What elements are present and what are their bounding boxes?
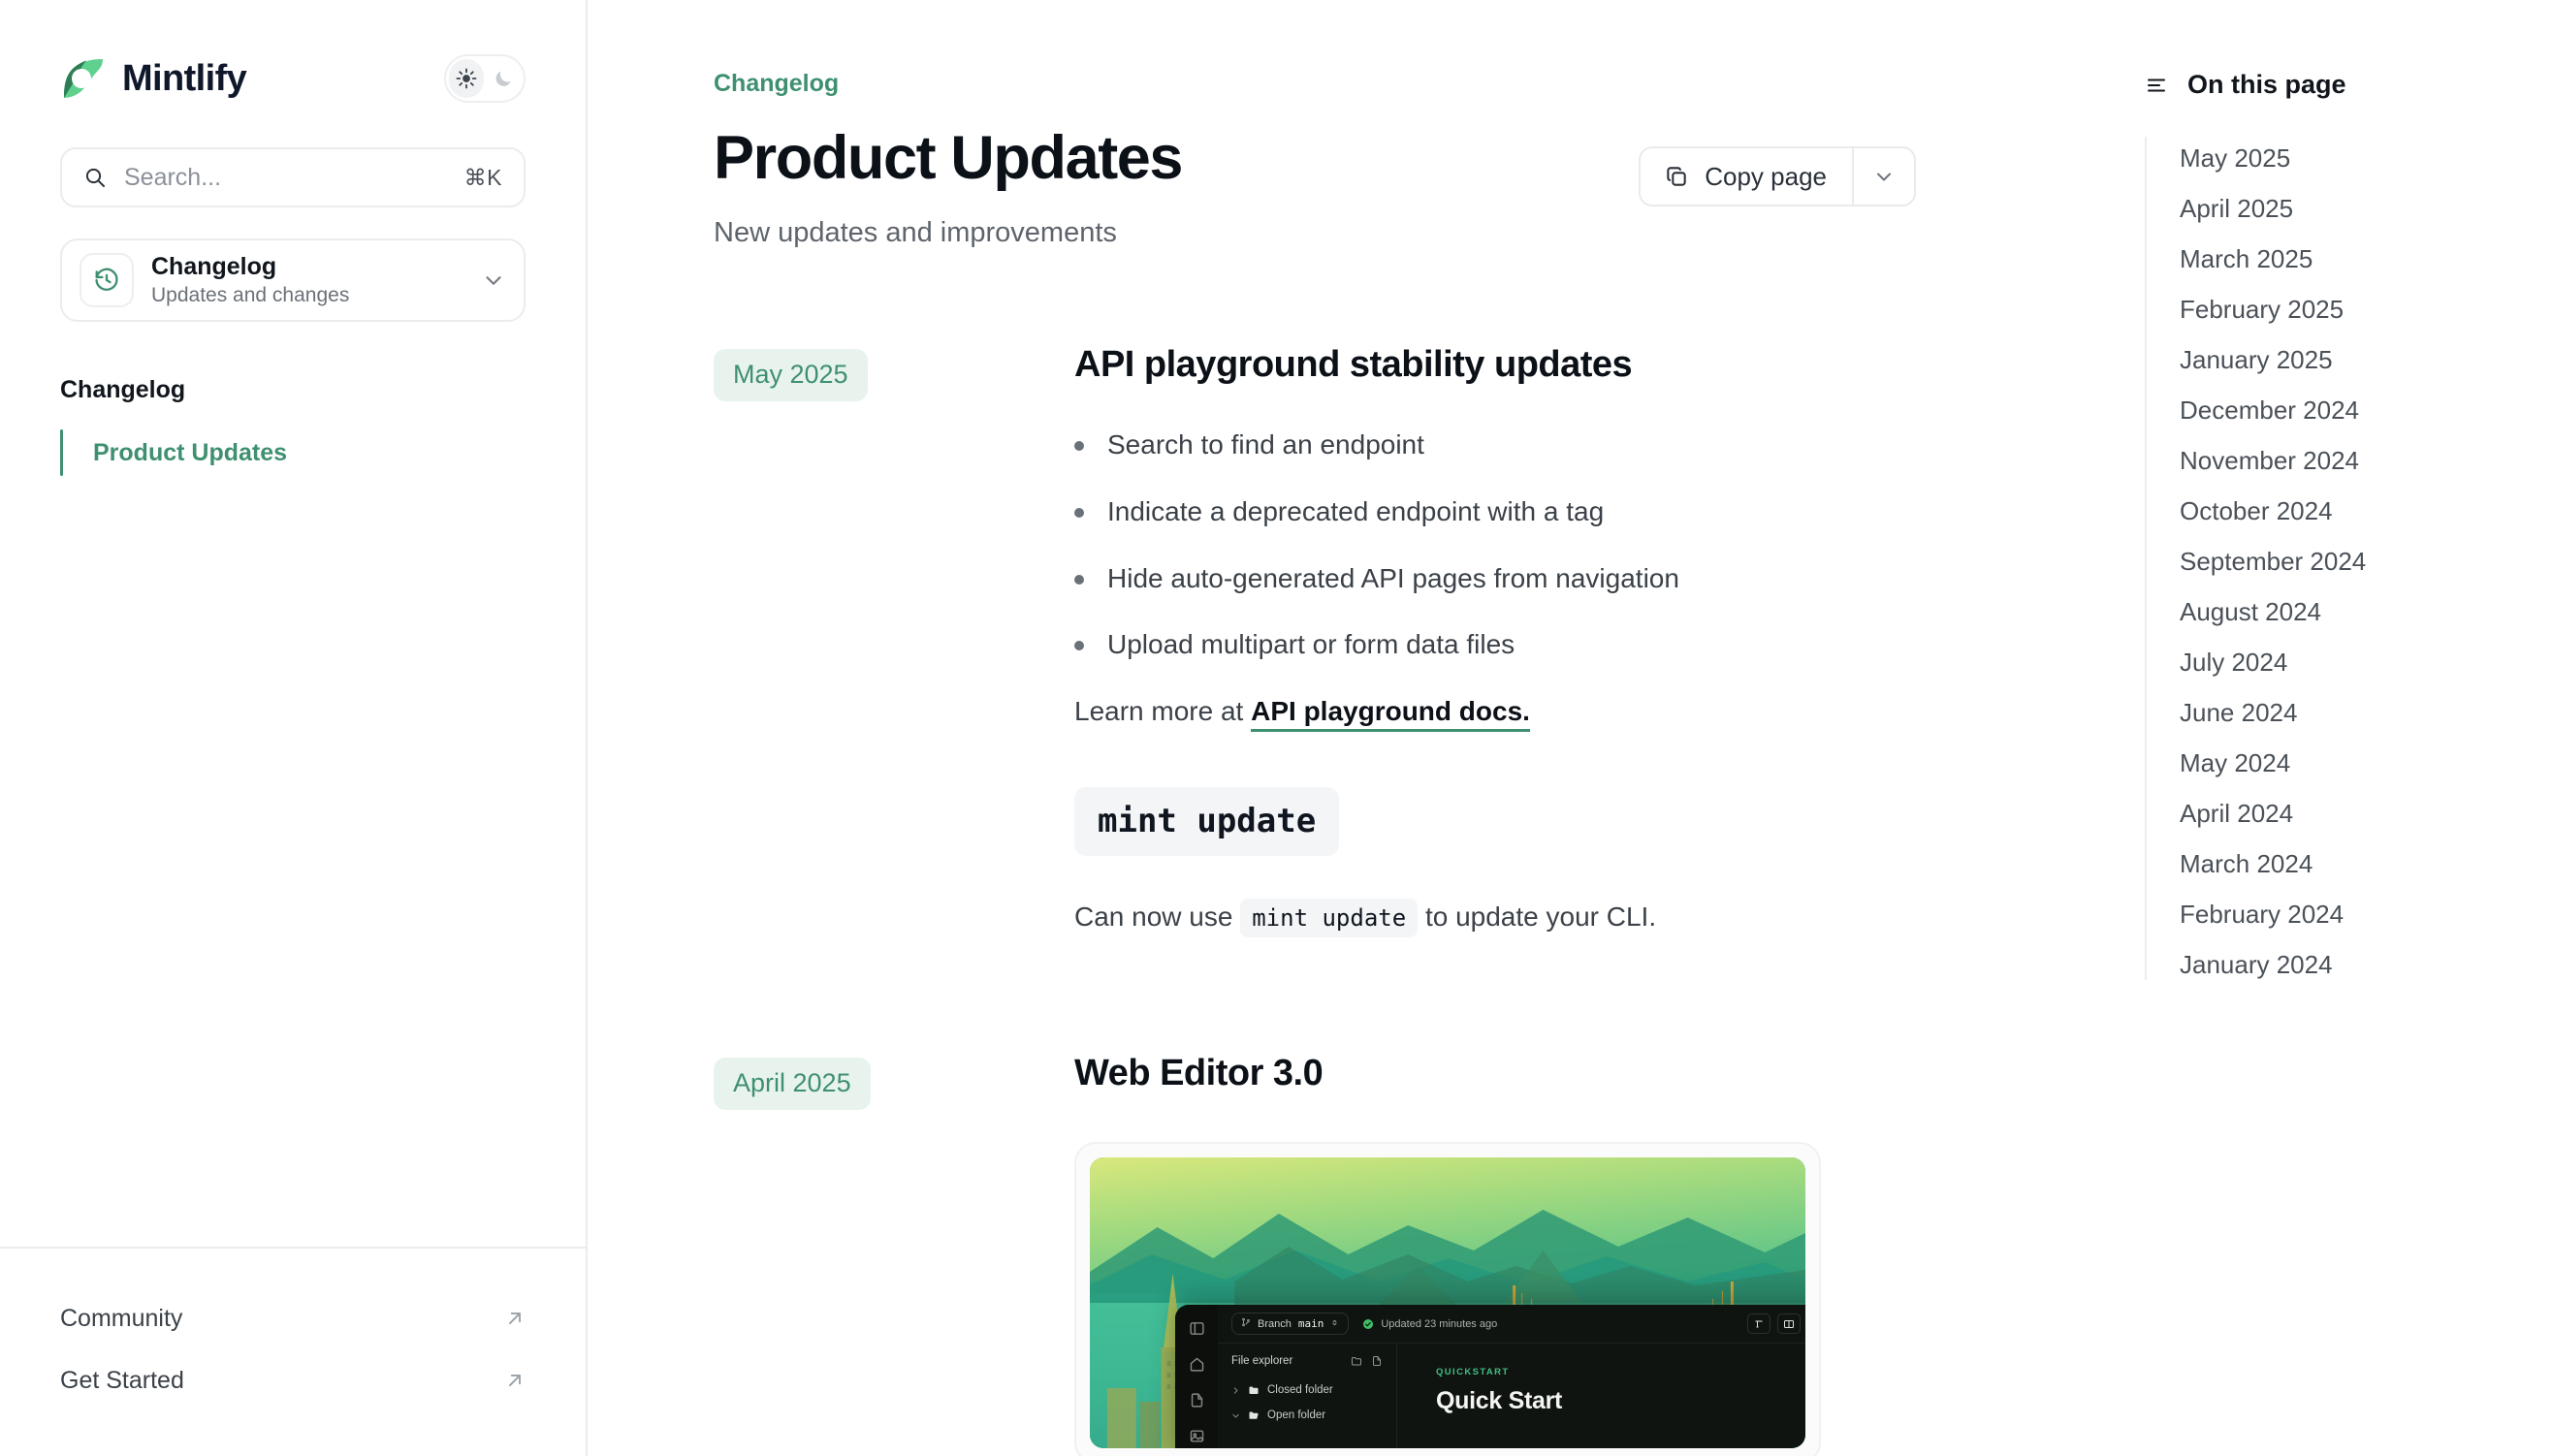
file-explorer-panel: File explorer: [1218, 1344, 1397, 1448]
toc-item[interactable]: November 2024: [2180, 435, 2513, 486]
updated-text: Updated 23 minutes ago: [1381, 1318, 1497, 1330]
chevron-right-icon: [1231, 1386, 1240, 1395]
panel-toggle-icon[interactable]: [1189, 1320, 1205, 1337]
bullet-dot-icon: [1074, 508, 1084, 518]
breadcrumb[interactable]: Changelog: [714, 72, 1916, 96]
toc-title: On this page: [2187, 72, 2346, 98]
copy-page-group: Copy page: [1639, 146, 1916, 206]
page-title: Product Updates: [714, 125, 1182, 191]
list-item-text: Indicate a deprecated endpoint with a ta…: [1107, 492, 1604, 532]
check-circle-icon: [1362, 1318, 1374, 1330]
home-icon[interactable]: [1189, 1356, 1205, 1373]
toc-item[interactable]: March 2025: [2180, 234, 2513, 284]
entry-heading: API playground stability updates: [1074, 343, 1916, 388]
web-editor-screenshot: Branch main: [1090, 1157, 1805, 1448]
toc-item[interactable]: February 2024: [2180, 889, 2513, 939]
editor-columns: File explorer: [1218, 1344, 1805, 1448]
api-playground-docs-link[interactable]: API playground docs.: [1251, 696, 1530, 732]
list-icon: [2145, 74, 2168, 97]
doc-title: Quick Start: [1436, 1387, 1805, 1415]
toc-item[interactable]: July 2024: [2180, 637, 2513, 687]
file-explorer-actions: [1351, 1355, 1383, 1367]
on-this-page-toc: On this page May 2025 April 2025 March 2…: [2145, 0, 2552, 1456]
toc-item[interactable]: October 2024: [2180, 486, 2513, 536]
list-item[interactable]: Open folder: [1218, 1403, 1396, 1428]
toc-item[interactable]: April 2024: [2180, 788, 2513, 839]
sidebar-brand-row: Mintlify: [60, 50, 526, 107]
entry-heading: Web Editor 3.0: [1074, 1052, 1916, 1096]
cli-line-suffix: to update your CLI.: [1418, 902, 1656, 932]
toc-item[interactable]: May 2024: [2180, 738, 2513, 788]
learn-more-prefix: Learn more at: [1074, 696, 1251, 726]
learn-more-line: Learn more at API playground docs.: [1074, 692, 1916, 732]
entry-body: Web Editor 3.0: [1074, 1052, 1916, 1456]
footer-link-label: Community: [60, 1305, 182, 1333]
git-branch-icon: [1241, 1317, 1251, 1330]
search-input[interactable]: Search... ⌘K: [60, 147, 526, 207]
image-icon[interactable]: [1189, 1428, 1205, 1444]
folder-closed-icon: [1248, 1384, 1260, 1396]
copy-page-button[interactable]: Copy page: [1641, 148, 1852, 205]
chevron-down-icon[interactable]: [481, 268, 506, 293]
editor-topbar: Branch main: [1218, 1305, 1805, 1344]
toc-item[interactable]: December 2024: [2180, 385, 2513, 435]
toc-header: On this page: [2145, 72, 2513, 98]
page-header-row: Product Updates New updates and improvem…: [714, 125, 1916, 250]
list-item: Hide auto-generated API pages from navig…: [1074, 559, 1916, 599]
main-content: Changelog Product Updates New updates an…: [588, 0, 2145, 1456]
sidebar-item-label: Product Updates: [93, 439, 287, 467]
sidebar-footer: Community Get Started: [0, 1247, 586, 1456]
theme-toggle-dark[interactable]: [486, 59, 521, 98]
editor-icon-rail: [1175, 1305, 1218, 1448]
changelog-context-card[interactable]: Changelog Updates and changes: [60, 238, 526, 322]
split-view-icon[interactable]: [1777, 1314, 1801, 1334]
branch-selector[interactable]: Branch main: [1231, 1313, 1349, 1335]
entry-bullet-list: Search to find an endpoint Indicate a de…: [1074, 426, 1916, 664]
mintlify-leaf-logo-icon: [60, 55, 107, 102]
bullet-dot-icon: [1074, 575, 1084, 585]
chevron-updown-icon: [1330, 1318, 1339, 1330]
list-item: Indicate a deprecated endpoint with a ta…: [1074, 492, 1916, 532]
history-clock-icon: [80, 253, 134, 307]
editor-document-preview: QUICKSTART Quick Start: [1397, 1344, 1805, 1448]
search-shortcut: ⌘K: [464, 165, 502, 191]
copy-page-dropdown-button[interactable]: [1854, 148, 1914, 205]
file-explorer-header: File explorer: [1218, 1355, 1396, 1377]
folder-open-icon: [1248, 1409, 1260, 1421]
file-name: Closed folder: [1267, 1384, 1333, 1396]
external-link-icon: [504, 1370, 526, 1391]
list-item-text: Search to find an endpoint: [1107, 426, 1424, 465]
toc-item[interactable]: January 2025: [2180, 334, 2513, 385]
app-root: Mintlify: [0, 0, 2552, 1456]
entry-date-column: May 2025: [714, 343, 1074, 401]
toc-list: May 2025 April 2025 March 2025 February …: [2145, 133, 2513, 990]
list-item: Upload multipart or form data files: [1074, 625, 1916, 665]
context-card-texts: Changelog Updates and changes: [151, 254, 463, 307]
changelog-entry: May 2025 API playground stability update…: [714, 343, 1916, 937]
branch-label: Branch: [1258, 1318, 1292, 1330]
list-item: Search to find an endpoint: [1074, 426, 1916, 465]
new-file-icon[interactable]: [1371, 1355, 1383, 1367]
code-block-mint-update: mint update: [1074, 787, 1339, 856]
theme-toggle[interactable]: [444, 54, 526, 103]
web-editor-screenshot-card: Branch main: [1074, 1142, 1821, 1456]
updated-status: Updated 23 minutes ago: [1362, 1318, 1497, 1330]
toc-item[interactable]: April 2025: [2180, 183, 2513, 234]
editor-topbar-actions: [1747, 1314, 1805, 1334]
theme-toggle-light[interactable]: [449, 59, 484, 98]
editor-panel: Branch main: [1175, 1305, 1805, 1448]
sidebar: Mintlify: [0, 0, 588, 1456]
list-item-text: Upload multipart or form data files: [1107, 625, 1515, 665]
moon-icon: [493, 68, 514, 89]
list-item-text: Hide auto-generated API pages from navig…: [1107, 559, 1679, 599]
text-format-icon[interactable]: [1747, 1314, 1770, 1334]
toc-item[interactable]: September 2024: [2180, 536, 2513, 586]
bullet-dot-icon: [1074, 641, 1084, 650]
toc-item[interactable]: June 2024: [2180, 687, 2513, 738]
list-item[interactable]: Closed folder: [1218, 1377, 1396, 1403]
toc-item[interactable]: March 2024: [2180, 839, 2513, 889]
toc-item[interactable]: February 2025: [2180, 284, 2513, 334]
main-inner: Changelog Product Updates New updates an…: [588, 72, 1964, 1456]
sun-icon: [456, 68, 477, 89]
cli-line-prefix: Can now use: [1074, 902, 1240, 932]
brand-name: Mintlify: [122, 60, 246, 97]
chevron-down-icon: [1872, 165, 1896, 188]
footer-link-label: Get Started: [60, 1367, 184, 1395]
bullet-dot-icon: [1074, 441, 1084, 451]
page-title-block: Product Updates New updates and improvem…: [714, 125, 1182, 250]
file-edit-icon[interactable]: [1189, 1392, 1205, 1409]
file-explorer-title: File explorer: [1231, 1355, 1292, 1367]
sidebar-item-product-updates[interactable]: Product Updates: [60, 427, 526, 478]
doc-eyebrow: QUICKSTART: [1436, 1367, 1805, 1377]
brand[interactable]: Mintlify: [60, 55, 246, 102]
cli-update-line: Can now use mint update to update your C…: [1074, 897, 1916, 937]
toc-item[interactable]: August 2024: [2180, 586, 2513, 637]
inline-code-mint-update: mint update: [1240, 899, 1418, 937]
chevron-down-icon: [1231, 1411, 1240, 1420]
page-subtitle: New updates and improvements: [714, 216, 1182, 250]
toc-item[interactable]: May 2025: [2180, 133, 2513, 183]
sidebar-nav: Changelog Product Updates: [0, 322, 586, 478]
entry-date-badge[interactable]: May 2025: [714, 349, 868, 401]
search-placeholder: Search...: [124, 166, 447, 190]
context-card-title: Changelog: [151, 254, 463, 281]
footer-link-community[interactable]: Community: [60, 1287, 526, 1349]
search-icon: [83, 166, 107, 189]
external-link-icon: [504, 1308, 526, 1329]
entry-body: API playground stability updates Search …: [1074, 343, 1916, 937]
new-folder-icon[interactable]: [1351, 1355, 1362, 1367]
entry-date-column: April 2025: [714, 1052, 1074, 1110]
footer-link-get-started[interactable]: Get Started: [60, 1349, 526, 1411]
entry-date-badge[interactable]: April 2025: [714, 1058, 871, 1110]
sidebar-group-title: Changelog: [60, 378, 526, 402]
copy-page-label: Copy page: [1705, 162, 1827, 192]
copy-icon: [1664, 164, 1689, 189]
changelog-entries: May 2025 API playground stability update…: [714, 343, 1916, 1456]
changelog-entry: April 2025 Web Editor 3.0: [714, 1052, 1916, 1456]
file-name: Open folder: [1267, 1409, 1325, 1421]
context-card-subtitle: Updates and changes: [151, 284, 463, 306]
sidebar-top: Mintlify: [0, 0, 586, 322]
toc-item[interactable]: January 2024: [2180, 939, 2513, 990]
editor-main: Branch main: [1218, 1305, 1805, 1448]
branch-name: main: [1298, 1317, 1324, 1330]
